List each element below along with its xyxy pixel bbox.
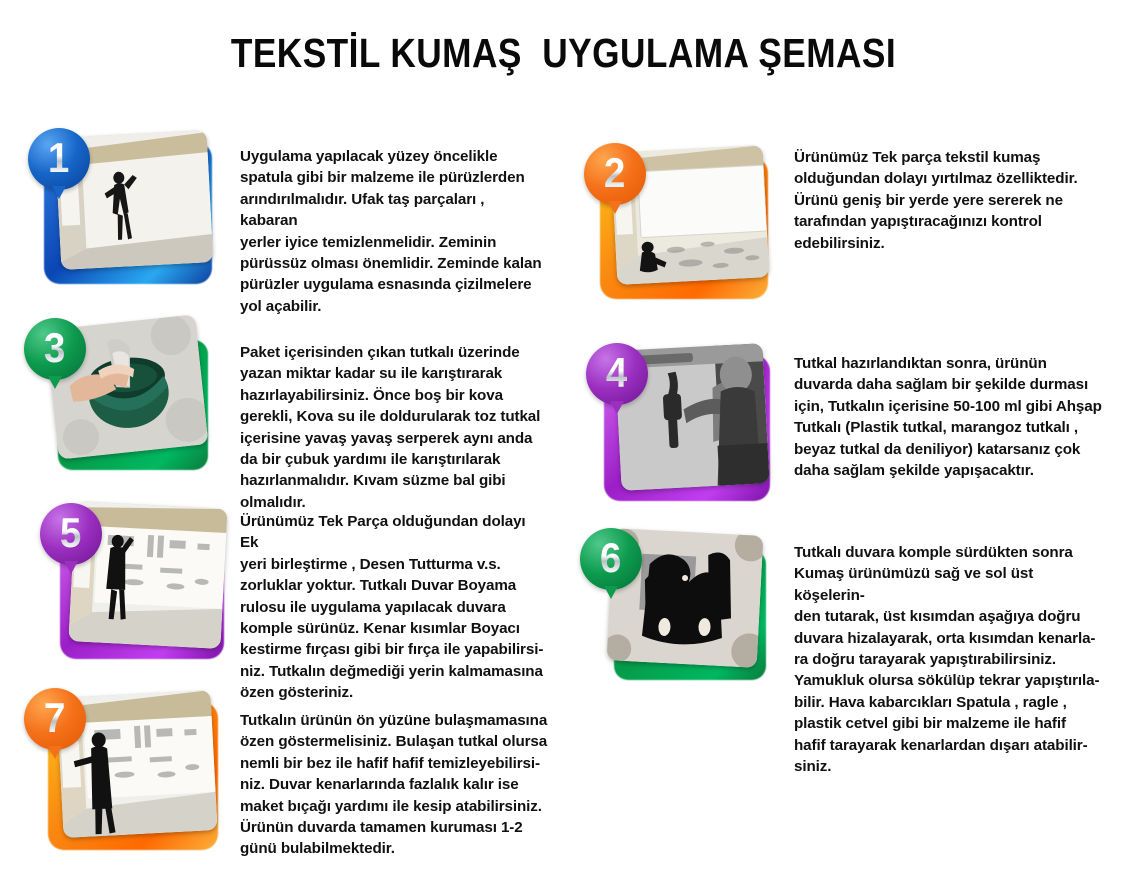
step-7-badge: 7 (24, 688, 86, 750)
step-3-text: Paket içerisinden çıkan tutkalı üzerinde… (240, 342, 545, 513)
step-1-badge: 1 (28, 128, 90, 190)
step-3-number: 3 (44, 327, 65, 371)
step-6-text: Tutkalı duvara komple sürdükten sonra Ku… (794, 542, 1102, 777)
infographic-page: TEKSTİL KUMAŞ UYGULAMA ŞEMASI (0, 0, 1127, 888)
step-5-number: 5 (60, 512, 81, 556)
step-1-number: 1 (48, 137, 69, 181)
step-2-card: 2 (578, 143, 783, 313)
step-5-card: 5 (42, 503, 247, 673)
step-3-badge: 3 (24, 318, 86, 380)
step-1-card: 1 (22, 128, 227, 298)
step-6-card: 6 (578, 528, 783, 698)
step-6-number: 6 (600, 537, 621, 581)
step-4-text: Tutkal hazırlandıktan sonra, ürünün duva… (794, 353, 1106, 481)
step-4-card: 4 (578, 343, 783, 513)
step-4-number: 4 (606, 352, 627, 396)
step-2-badge: 2 (584, 143, 646, 205)
step-6-badge: 6 (580, 528, 642, 590)
page-title: TEKSTİL KUMAŞ UYGULAMA ŞEMASI (79, 30, 1048, 77)
step-1-text: Uygulama yapılacak yüzey öncelikle spatu… (240, 146, 545, 317)
step-2-number: 2 (604, 152, 625, 196)
step-5-text: Ürünümüz Tek Parça olduğundan dolayı Ek … (240, 511, 545, 704)
step-4-badge: 4 (586, 343, 648, 405)
step-5-badge: 5 (40, 503, 102, 565)
step-7-text: Tutkalın ürünün ön yüzüne bulaşmamasına … (240, 710, 548, 860)
step-3-card: 3 (22, 318, 227, 488)
step-7-card: 7 (22, 688, 227, 858)
step-2-text: Ürünümüz Tek parça tekstil kumaş olduğun… (794, 147, 1099, 254)
step-7-number: 7 (44, 697, 65, 741)
